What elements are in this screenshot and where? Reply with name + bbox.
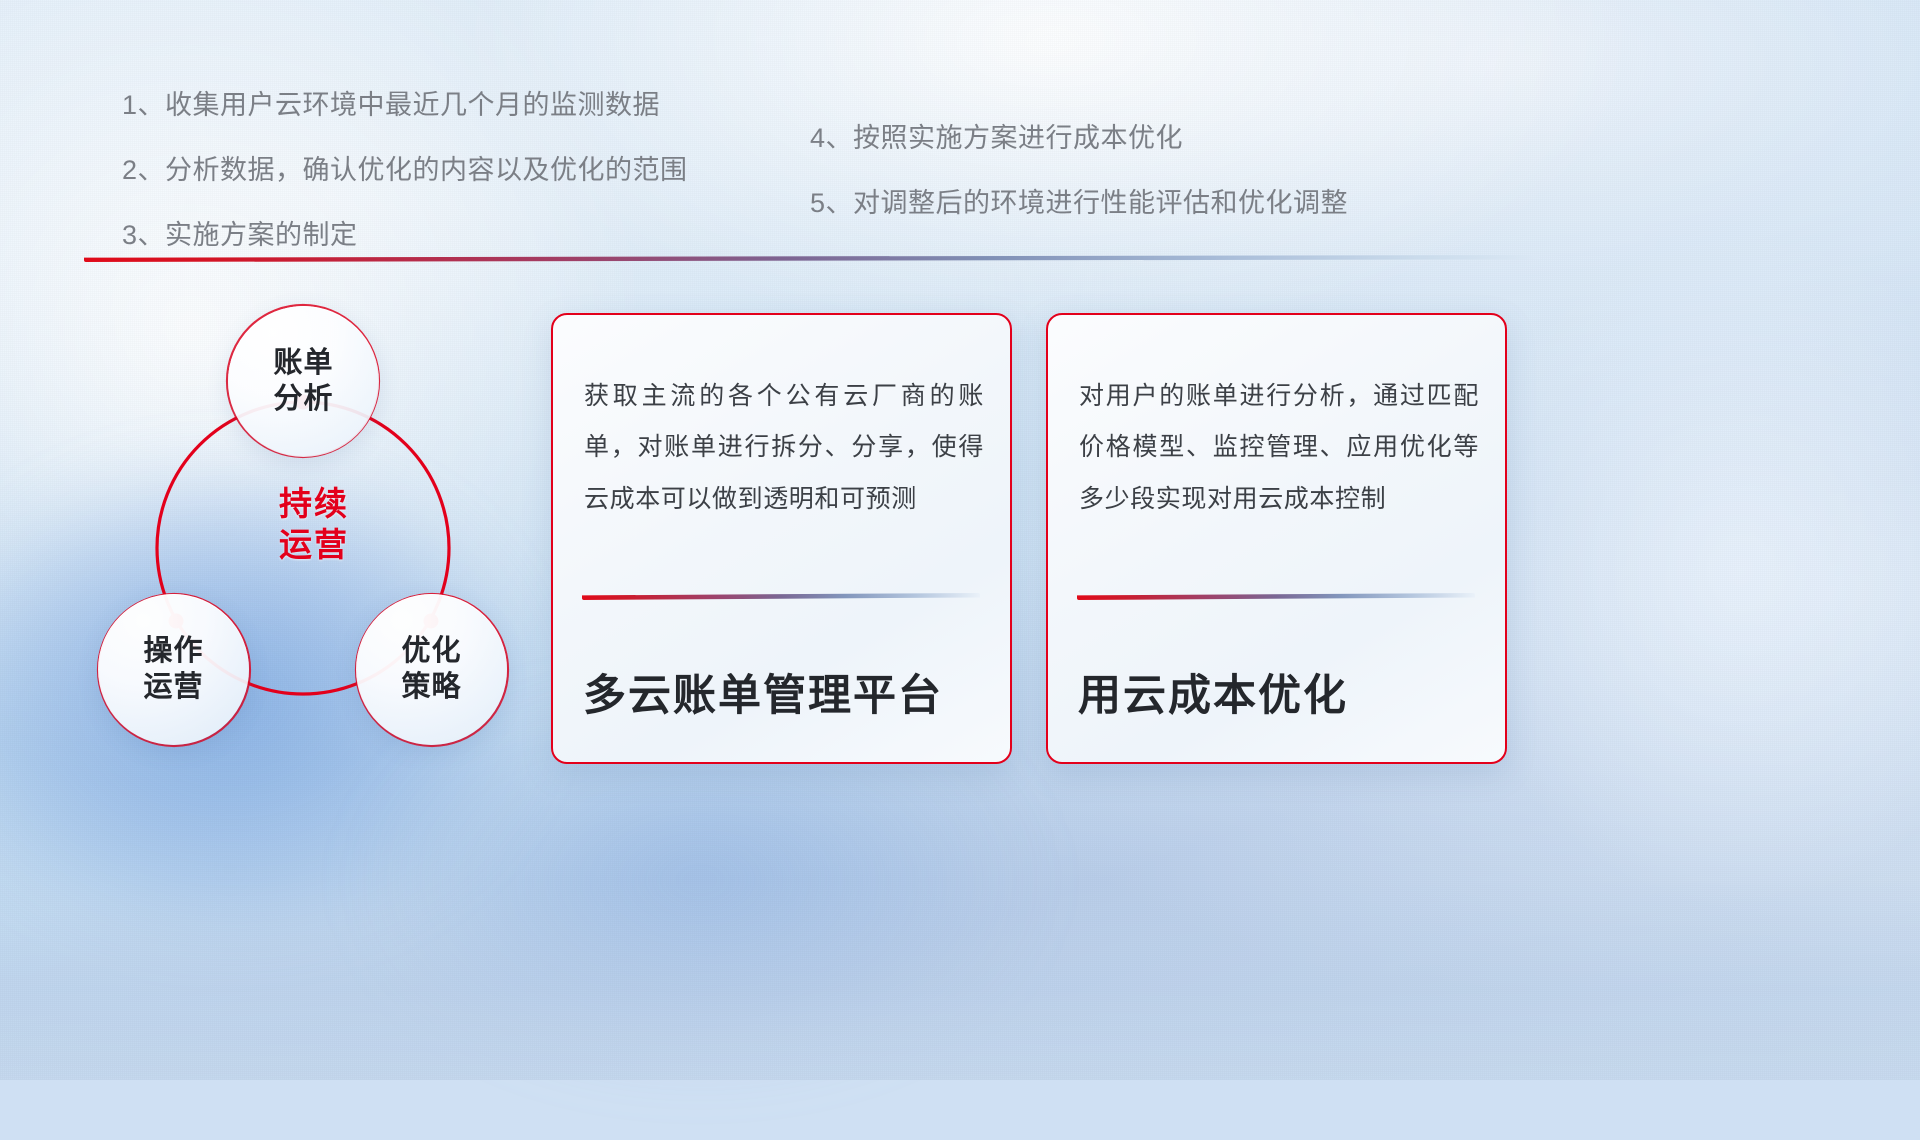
venn-center-label: 持续 运营 [254,483,374,566]
venn-bubble-label-line2: 运营 [143,671,203,703]
step-item-2: 2、分析数据，确认优化的内容以及优化的范围 [122,157,688,184]
card-cloud-cost-optimization[interactable]: 对用户的账单进行分析，通过匹配价格模型、监控管理、应用优化等多少段实现对用云成本… [1046,313,1507,764]
venn-bubble-label: 优化 策略 [401,634,461,705]
venn-bubble-bill-analysis[interactable]: 账单 分析 [228,306,379,457]
step-item-5: 5、对调整后的环境进行性能评估和优化调整 [810,190,1348,217]
card-body-text: 获取主流的各个公有云厂商的账单，对账单进行拆分、分享，使得云成本可以做到透明和可… [584,371,984,525]
card-multi-cloud-bill-platform[interactable]: 获取主流的各个公有云厂商的账单，对账单进行拆分、分享，使得云成本可以做到透明和可… [551,313,1012,764]
step-item-4: 4、按照实施方案进行成本优化 [810,125,1348,152]
venn-bubble-label-line2: 策略 [401,671,461,703]
step-item-3: 3、实施方案的制定 [122,222,688,249]
venn-bubble-label-line1: 操作 [143,635,203,667]
venn-bubble-label: 操作 运营 [143,634,203,705]
card-body-text: 对用户的账单进行分析，通过匹配价格模型、监控管理、应用优化等多少段实现对用云成本… [1079,371,1479,525]
steps-column-right: 4、按照实施方案进行成本优化 5、对调整后的环境进行性能评估和优化调整 [810,125,1348,255]
card-accent-rule [582,593,980,600]
card-title: 多云账单管理平台 [583,673,990,720]
card-title: 用云成本优化 [1078,673,1485,720]
steps-section: 1、收集用户云环境中最近几个月的监测数据 2、分析数据，确认优化的内容以及优化的… [0,92,1920,252]
card-accent-rule [1077,593,1475,600]
venn-bubble-label-line1: 优化 [401,635,461,667]
venn-diagram: 账单 分析 操作 运营 优化 策略 持续 运营 [82,288,552,768]
venn-center-label-line1: 持续 [279,485,349,522]
venn-bubble-label: 账单 分析 [273,346,333,417]
venn-bubble-optimize-strategy[interactable]: 优化 策略 [356,594,507,745]
venn-center-label-line2: 运营 [279,526,349,563]
venn-bubble-ops-operation[interactable]: 操作 运营 [98,594,249,745]
step-item-1: 1、收集用户云环境中最近几个月的监测数据 [122,92,688,119]
venn-bubble-label-line1: 账单 [273,347,333,379]
venn-bubble-label-line2: 分析 [273,383,333,415]
